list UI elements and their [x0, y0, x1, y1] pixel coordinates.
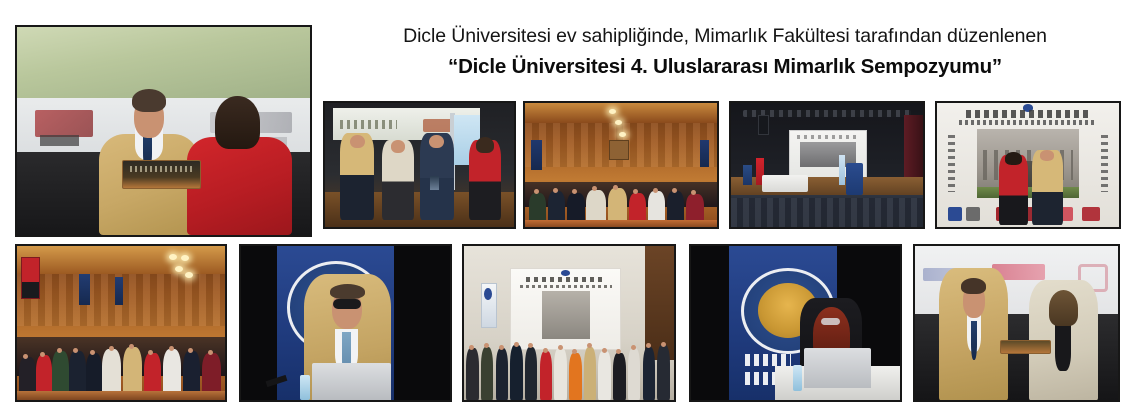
symposium-photo-collage: Dicle Üniversitesi ev sahipliğinde, Mima…: [0, 0, 1134, 416]
man-in-tan-suit: [1032, 150, 1063, 224]
head: [653, 188, 658, 193]
woman-in-red-blazer: [999, 155, 1028, 224]
ceiling-light: [619, 132, 626, 137]
water-bottle: [793, 365, 801, 391]
page-title: Dicle Üniversitesi ev sahipliğinde, Mima…: [330, 24, 1120, 81]
head: [543, 348, 548, 353]
banner-title-text: [526, 277, 605, 283]
necktie: [971, 321, 977, 361]
man-tan-suit: [340, 133, 374, 220]
person: [657, 345, 670, 400]
head-table: [762, 175, 808, 192]
auditorium-scene-2: [17, 246, 225, 400]
face: [1040, 150, 1054, 160]
head: [90, 350, 95, 355]
hair: [330, 284, 365, 299]
photo-group-of-four-with-awards: [323, 101, 516, 229]
woman-in-red-blazer: [187, 81, 292, 235]
head: [169, 346, 174, 351]
head: [553, 188, 558, 193]
banner-right: [115, 277, 123, 305]
photo-auditorium-wide-stage: [729, 101, 925, 229]
sponsor-logo-bed: [35, 110, 94, 137]
woman-red-blazer: [469, 140, 501, 219]
hair: [132, 89, 166, 112]
person: [643, 347, 656, 400]
photo-award-presentation-hero: [15, 25, 312, 237]
photo-male-speaker-at-podium: [239, 244, 452, 402]
sponsor-logo: [966, 207, 980, 221]
head: [514, 342, 519, 347]
laptop: [312, 363, 391, 400]
crowd: [17, 301, 225, 400]
person: [540, 351, 553, 400]
face: [350, 135, 365, 149]
award-scene-2: [915, 246, 1118, 400]
face: [429, 135, 444, 149]
photo-large-group-auditorium: [523, 101, 719, 229]
garden-strip: [977, 187, 1079, 198]
audience-seating: [731, 195, 923, 227]
hair: [961, 278, 986, 294]
hair: [1049, 290, 1078, 326]
person: [466, 348, 479, 400]
award-plaque: [1000, 340, 1051, 354]
sponsor-logo-bed-text: [40, 135, 78, 145]
group-row: [464, 326, 674, 400]
banner-subtitle-text: [520, 285, 612, 288]
man-denim-jacket: [420, 133, 454, 220]
person: [554, 348, 567, 400]
floor: [17, 391, 225, 400]
head: [40, 352, 45, 357]
water-bottle: [300, 375, 310, 400]
torso: [999, 155, 1028, 224]
head: [631, 345, 636, 350]
man-in-tan-suit: [939, 268, 1008, 400]
university-flag: [839, 155, 846, 185]
eyeglasses-icon: [821, 318, 840, 325]
torso: [1032, 150, 1063, 224]
hair: [215, 96, 259, 148]
person: [496, 348, 509, 400]
photo-large-group-auditorium-second-angle: [15, 244, 227, 402]
roll-up-banner: [743, 165, 753, 185]
head: [499, 345, 504, 350]
person: [584, 347, 597, 400]
auditorium-scene: [525, 103, 717, 227]
woman-patterned-jacket: [382, 140, 414, 219]
head: [57, 348, 62, 353]
head: [558, 345, 563, 350]
award-plaque: [122, 160, 200, 189]
podium-scene-female: [691, 246, 900, 400]
stage-curtain: [904, 115, 923, 184]
banner-side-text-left: [948, 135, 955, 192]
wide-stage-scene: [731, 103, 923, 227]
head: [672, 188, 677, 193]
title-line-2: “Dicle Üniversitesi 4. Uluslararası Mima…: [330, 54, 1120, 81]
head: [613, 185, 618, 190]
hero-scene: [17, 27, 310, 235]
red-blazer: [187, 137, 292, 236]
podium: [846, 163, 863, 195]
sponsor-logo: [1082, 207, 1100, 221]
banner-title-text: [966, 110, 1090, 117]
person: [628, 348, 641, 400]
award-plaque: [430, 176, 439, 190]
head: [73, 348, 78, 353]
photo-group-photo-lobby-banner: [462, 244, 676, 402]
hair: [1005, 152, 1021, 164]
backdrop-scene: [937, 103, 1119, 227]
person: [481, 347, 494, 400]
lobby-scene: [464, 246, 674, 400]
dark-top: [1055, 321, 1072, 371]
banner-subtitle-text: [959, 120, 1097, 125]
ataturk-portrait: [21, 257, 40, 299]
seat-row: [525, 220, 717, 227]
face: [391, 140, 405, 153]
head: [572, 189, 577, 194]
speaker-box: [758, 115, 770, 134]
person: [613, 353, 626, 400]
eyeglasses-icon: [333, 299, 361, 309]
head: [188, 348, 193, 353]
ceiling: [17, 246, 225, 274]
banner-text-fakultesi: [745, 372, 776, 384]
person: [569, 353, 582, 400]
head: [602, 348, 607, 353]
stage-group-scene: [325, 103, 514, 227]
banner-side-text-right: [1101, 135, 1108, 192]
laptop: [804, 348, 871, 388]
audience-heads: [731, 198, 923, 227]
head: [23, 354, 28, 359]
crowd: [525, 155, 717, 227]
person: [598, 351, 611, 400]
man-in-tan-suit: [99, 73, 199, 235]
head: [534, 189, 539, 194]
head: [661, 342, 666, 347]
person: [525, 347, 538, 400]
sponsor-logo: [948, 207, 962, 221]
person: [510, 345, 523, 400]
hair: [476, 137, 494, 153]
university-seal-icon: [561, 270, 570, 276]
title-line-1: Dicle Üniversitesi ev sahipliğinde, Mima…: [330, 24, 1120, 48]
sponsor-logo-strip: [948, 207, 1108, 221]
banner-left: [79, 274, 89, 305]
screen-caption: [797, 135, 858, 139]
head: [109, 346, 114, 351]
photo-female-speaker-at-podium: [689, 244, 902, 402]
ceiling-light: [169, 254, 177, 260]
banner-text-mimarlik: [745, 354, 791, 366]
photo-symposium-backdrop-portrait: [935, 101, 1121, 229]
podium-scene-male: [241, 246, 450, 400]
head: [148, 350, 153, 355]
screen-logo-left: [340, 120, 397, 129]
photo-award-presentation-second: [913, 244, 1120, 402]
